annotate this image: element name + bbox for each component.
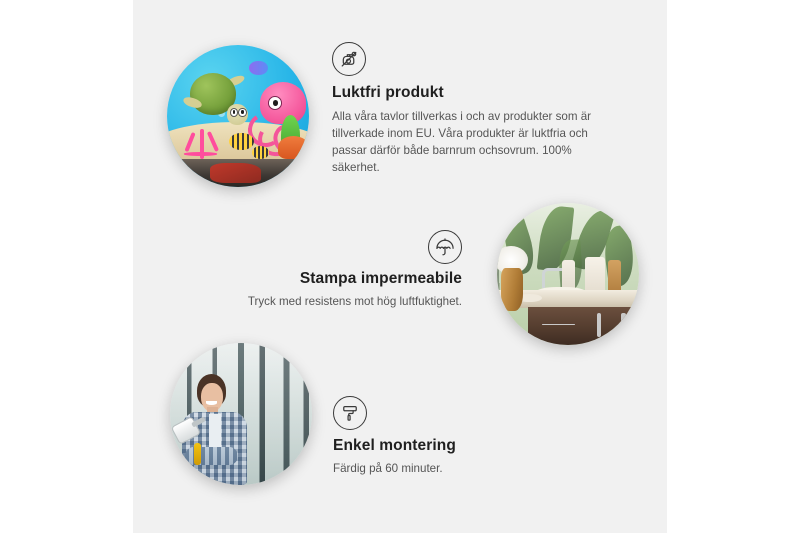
octopus-head [260, 82, 307, 124]
turtle-illustration [190, 73, 252, 126]
feature-title: Enkel montering [333, 437, 583, 456]
yellow-fish-icon [252, 146, 269, 159]
coral-branch [184, 152, 217, 155]
feature-image-underwater-cartoon-mural [167, 45, 309, 187]
bathroom-scene [497, 203, 639, 345]
umbrella-icon [428, 230, 462, 264]
feature-icon-row [198, 230, 462, 264]
door-handle [597, 313, 601, 337]
drawer-handle [542, 324, 575, 326]
turtle-eye [238, 108, 246, 117]
paint-roller-icon [333, 396, 367, 430]
gold-vase [501, 268, 522, 311]
room-foreground-strip [167, 159, 309, 187]
feature-image-woman-with-paint-roller-forest [170, 343, 312, 485]
feature-image-bathroom-tropical-wallpaper [497, 203, 639, 345]
no-odour-perfume-icon [332, 42, 366, 76]
feature-easy-mounting: Enkel montering Färdig på 60 minuter. [333, 396, 583, 477]
door-handle [621, 313, 625, 337]
forest-mural-scene [170, 343, 312, 485]
feature-waterproof-print: Stampa impermeabile Tryck med resistens … [198, 230, 462, 310]
yellow-fish-icon [229, 133, 253, 150]
feature-odour-free: Luktfri produkt Alla våra tavlor tillver… [332, 42, 622, 176]
woman-smile [206, 401, 217, 405]
underwater-scene [167, 45, 309, 187]
wooden-vanity-cabinet [528, 307, 639, 345]
yellow-tool-grip [194, 443, 201, 465]
feature-description: Alla våra tavlor tillverkas i och av pro… [332, 108, 622, 177]
crab-illustration [278, 136, 309, 159]
coral-branch [184, 132, 195, 152]
feature-title: Stampa impermeabile [198, 270, 462, 289]
feature-description: Färdig på 60 minuter. [333, 460, 583, 477]
feature-title: Luktfri produkt [332, 84, 622, 103]
page-root: Luktfri produkt Alla våra tavlor tillver… [0, 0, 800, 533]
octopus-eye [268, 96, 282, 110]
turtle-head [227, 104, 248, 125]
feature-description: Tryck med resistens mot hög luftfuktighe… [198, 293, 462, 310]
turtle-eye [230, 108, 238, 117]
coral-illustration [181, 122, 224, 159]
paint-roller-handle [192, 416, 207, 427]
coral-branch [207, 131, 219, 152]
woman-illustration [179, 374, 264, 485]
